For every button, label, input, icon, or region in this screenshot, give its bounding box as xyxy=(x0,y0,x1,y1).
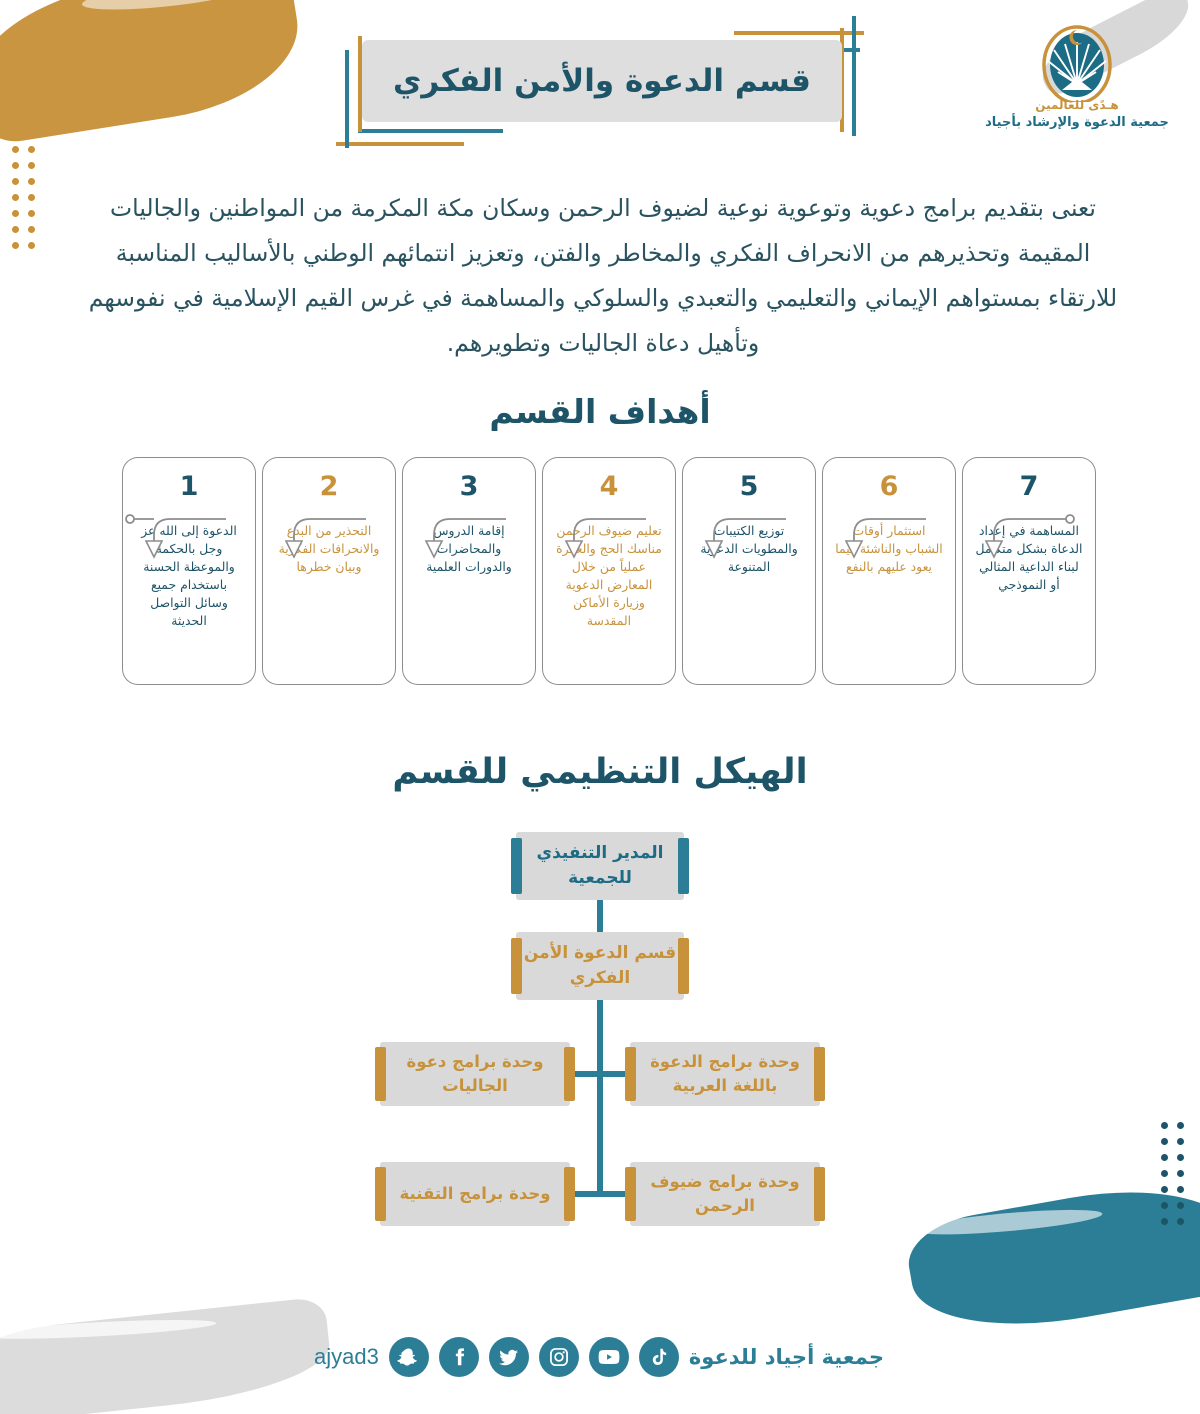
goal-card-header: 1 xyxy=(122,457,256,515)
goal-text: الدعوة إلى الله عز وجل بالحكمة والموعظة … xyxy=(133,522,245,676)
page-title: قسم الدعوة والأمن الفكري xyxy=(393,63,811,99)
goal-card-header: 7 xyxy=(962,457,1096,515)
goal-card[interactable]: 7 المساهمة في إعداد الدعاة بشكل متكامل ل… xyxy=(962,457,1096,685)
org-box-label: وحدة برامج دعوة الجاليات xyxy=(380,1050,570,1098)
goal-card-body: المساهمة في إعداد الدعاة بشكل متكامل لبن… xyxy=(962,510,1096,685)
twitter-icon[interactable] xyxy=(489,1337,529,1377)
goal-card-header: 2 xyxy=(262,457,396,515)
org-box-label: وحدة برامج ضيوف الرحمن xyxy=(630,1170,820,1218)
org-box-department[interactable]: قسم الدعوة الأمن الفكري xyxy=(516,932,684,1000)
goal-number: 2 xyxy=(320,471,339,502)
org-box-accent-right xyxy=(564,1167,575,1221)
goal-card-body: تعليم ضيوف الرحمن مناسك الحج والعمرة عمل… xyxy=(542,510,676,685)
goal-text: توزيع الكتيبات والمطويات الدعوية المتنوع… xyxy=(693,522,805,676)
goal-card[interactable]: 3 إقامة الدروس والمحاضرات والدورات العلم… xyxy=(402,457,536,685)
org-box-accent-left xyxy=(511,938,522,994)
goal-text: المساهمة في إعداد الدعاة بشكل متكامل لبن… xyxy=(973,522,1085,676)
org-chart: المدير التنفيذي للجمعية قسم الدعوة الأمن… xyxy=(0,820,1200,1260)
snapchat-icon[interactable] xyxy=(389,1337,429,1377)
org-box-ceo[interactable]: المدير التنفيذي للجمعية xyxy=(516,832,684,900)
org-chart-title: الهيكل التنظيمي للقسم xyxy=(0,752,1200,792)
facebook-icon[interactable] xyxy=(439,1337,479,1377)
goal-card-header: 3 xyxy=(402,457,536,515)
footer-organization-name: جمعية أجياد للدعوة xyxy=(689,1345,884,1369)
org-box-accent-right xyxy=(564,1047,575,1101)
goal-card-body: استثمار أوقات الشباب والناشئة فيما يعود … xyxy=(822,510,956,685)
org-box-accent-right xyxy=(814,1047,825,1101)
org-box-accent-left xyxy=(625,1047,636,1101)
org-box-accent-left xyxy=(375,1167,386,1221)
org-box-label: المدير التنفيذي للجمعية xyxy=(516,841,684,891)
goal-text: التحذير من البدع والانحرافات الفكرية وبي… xyxy=(273,522,385,676)
goals-section-title: أهداف القسم xyxy=(0,392,1200,431)
infographic-page: قسم الدعوة والأمن الفكري xyxy=(0,0,1200,1414)
goal-number: 4 xyxy=(600,471,619,502)
goal-card-body: الدعوة إلى الله عز وجل بالحكمة والموعظة … xyxy=(122,510,256,685)
org-box-label: وحدة برامج الدعوة باللغة العربية xyxy=(630,1050,820,1098)
goal-text: إقامة الدروس والمحاضرات والدورات العلمية xyxy=(413,522,525,676)
org-box-accent-right xyxy=(678,938,689,994)
goal-card[interactable]: 5 توزيع الكتيبات والمطويات الدعوية المتن… xyxy=(682,457,816,685)
sunrise-dome-logo-icon xyxy=(982,16,1172,102)
goal-text: استثمار أوقات الشباب والناشئة فيما يعود … xyxy=(833,522,945,676)
goal-card[interactable]: 2 التحذير من البدع والانحرافات الفكرية و… xyxy=(262,457,396,685)
snapchat-handle: ajyad3 xyxy=(314,1344,379,1370)
header-rule-teal-left xyxy=(358,129,503,133)
org-box-unit[interactable]: وحدة برامج دعوة الجاليات xyxy=(380,1042,570,1106)
goal-card[interactable]: 1 الدعوة إلى الله عز وجل بالحكمة والموعظ… xyxy=(122,457,256,685)
org-box-unit[interactable]: وحدة برامج الدعوة باللغة العربية xyxy=(630,1042,820,1106)
organization-logo: هـدًى للعَالَمين جمعية الدعوة والإرشاد ب… xyxy=(982,16,1172,142)
header-rule-vertical-teal-left xyxy=(345,50,349,148)
goal-card[interactable]: 4 تعليم ضيوف الرحمن مناسك الحج والعمرة ع… xyxy=(542,457,676,685)
org-box-label: قسم الدعوة الأمن الفكري xyxy=(516,941,684,991)
goal-text: تعليم ضيوف الرحمن مناسك الحج والعمرة عمل… xyxy=(553,522,665,676)
org-box-accent-left xyxy=(375,1047,386,1101)
goal-card-header: 6 xyxy=(822,457,956,515)
goal-number: 1 xyxy=(180,471,199,502)
logo-organization-name: جمعية الدعوة والإرشاد بأجياد xyxy=(982,115,1172,130)
goal-card[interactable]: 6 استثمار أوقات الشباب والناشئة فيما يعو… xyxy=(822,457,956,685)
intro-paragraph: تعنى بتقديم برامج دعوية وتوعوية نوعية لض… xyxy=(80,186,1126,366)
goal-number: 7 xyxy=(1020,471,1039,502)
goal-card-header: 5 xyxy=(682,457,816,515)
page-title-box: قسم الدعوة والأمن الفكري xyxy=(362,40,842,122)
goal-card-body: إقامة الدروس والمحاضرات والدورات العلمية xyxy=(402,510,536,685)
goal-card-body: توزيع الكتيبات والمطويات الدعوية المتنوع… xyxy=(682,510,816,685)
page-header: قسم الدعوة والأمن الفكري xyxy=(0,0,1200,170)
org-box-accent-left xyxy=(625,1167,636,1221)
youtube-icon[interactable] xyxy=(589,1337,629,1377)
org-box-accent-right xyxy=(678,838,689,894)
header-rule-gold-left xyxy=(336,142,464,146)
org-box-label: وحدة برامج التقنية xyxy=(399,1182,550,1206)
header-rule-vertical-teal-right xyxy=(852,16,856,136)
org-box-unit[interactable]: وحدة برامج ضيوف الرحمن xyxy=(630,1162,820,1226)
goal-card-header: 4 xyxy=(542,457,676,515)
org-box-accent-right xyxy=(814,1167,825,1221)
goal-number: 3 xyxy=(460,471,479,502)
org-box-unit[interactable]: وحدة برامج التقنية xyxy=(380,1162,570,1226)
goal-card-body: التحذير من البدع والانحرافات الفكرية وبي… xyxy=(262,510,396,685)
goal-number: 6 xyxy=(880,471,899,502)
org-box-accent-left xyxy=(511,838,522,894)
instagram-icon[interactable] xyxy=(539,1337,579,1377)
page-footer: جمعية أجياد للدعوة xyxy=(0,1326,1200,1388)
goals-card-row: 7 المساهمة في إعداد الدعاة بشكل متكامل ل… xyxy=(104,457,1096,687)
header-rule-gold-right xyxy=(734,31,864,35)
goal-number: 5 xyxy=(740,471,759,502)
tiktok-icon[interactable] xyxy=(639,1337,679,1377)
